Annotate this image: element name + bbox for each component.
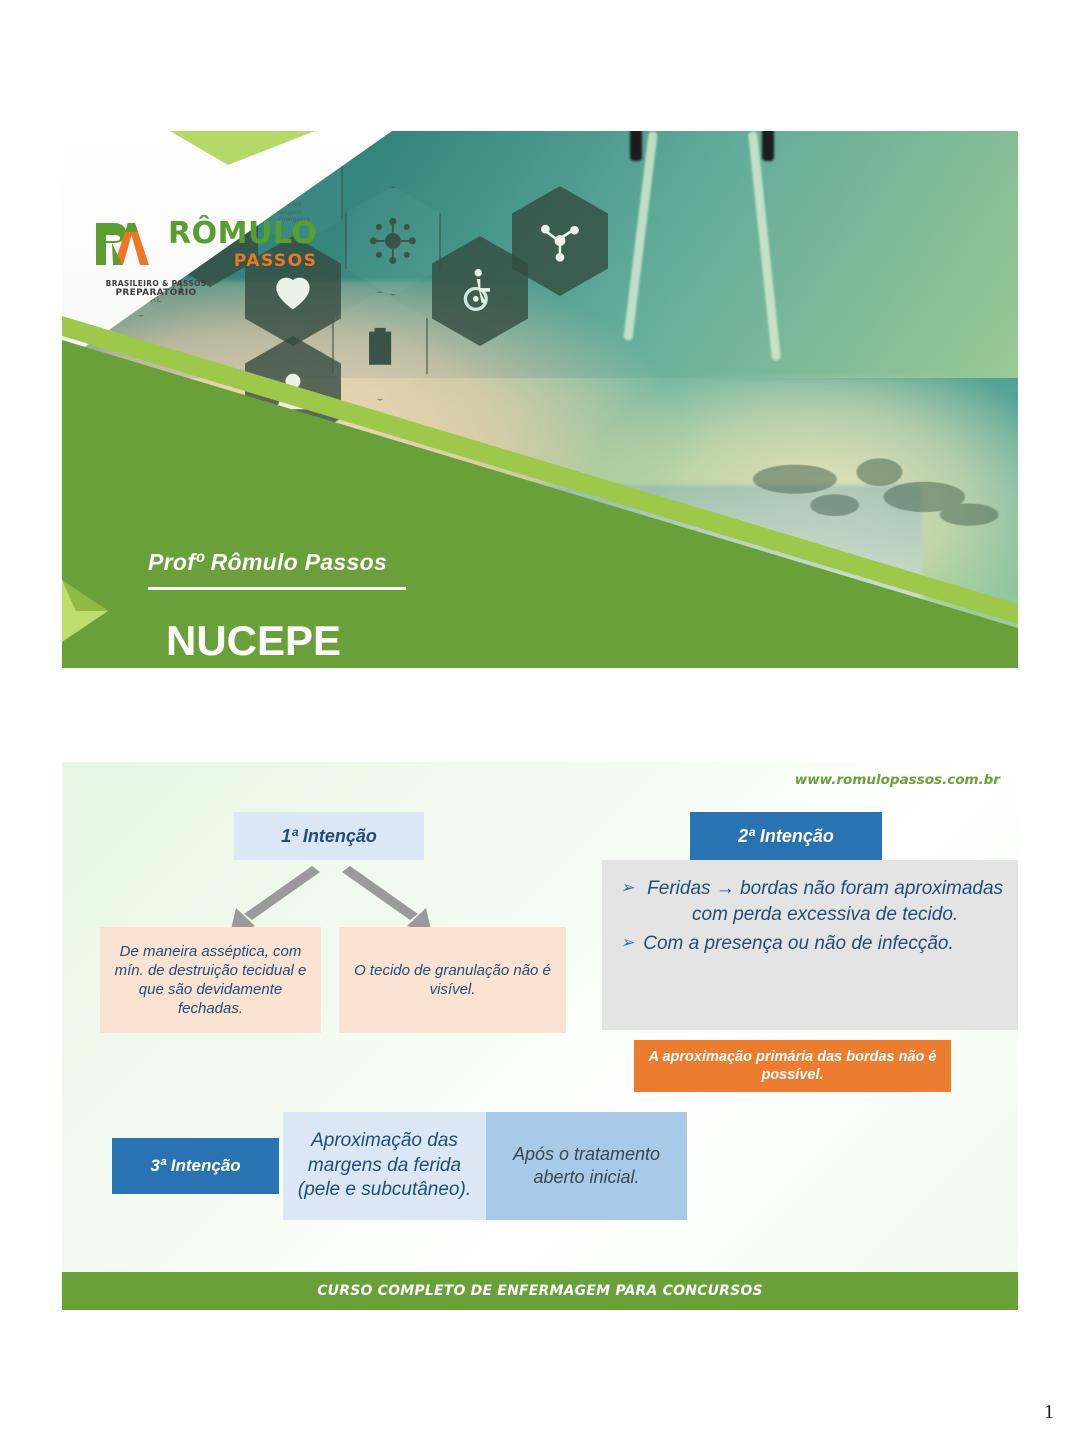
brand-logo: RÔMULO PASSOS BRASILEIRO & PASSOS PREPAR… — [90, 217, 320, 301]
intencao3-box-1: Aproximação das margens da ferida (pele … — [283, 1112, 486, 1220]
arrow-bullet-icon: ➢ — [620, 931, 634, 956]
intencao2-header: 2ª Intenção — [690, 812, 882, 860]
intencao2-callout: A aproximação primária das bordas não é … — [634, 1040, 951, 1092]
logo-romulo-text: RÔMULO — [168, 219, 317, 249]
title-slide: MEDICAL Health CareDoctorHospitalPharmac… — [62, 131, 1018, 668]
logo-wordmark: RÔMULO PASSOS — [168, 219, 317, 271]
intencao3-box-2: Após o tratamento aberto inicial. — [486, 1112, 687, 1220]
logo-subtitle-line1: BRASILEIRO & PASSOS — [90, 279, 222, 288]
intencao2-bullet-2-text: Com a presença ou não de infecção. — [643, 931, 954, 957]
intencao2-bullet-1-text: Feridas → bordas não foram aproximadas c… — [643, 876, 1007, 928]
intencao1-child-2: O tecido de granulação não é visível. — [339, 927, 566, 1033]
intencao1-child-1: De maneira asséptica, com mín. de destru… — [100, 927, 321, 1033]
page-title-line1: NUCEPE — [166, 620, 341, 662]
arrow-bullet-icon: ➢ — [620, 876, 634, 901]
professor-underline — [148, 587, 406, 590]
website-url: www.romulopassos.com.br — [795, 772, 1000, 788]
logo-subtitle-line2: PREPARATÓRIO — [90, 288, 222, 298]
intencao3-header: 3ª Intenção — [112, 1138, 279, 1194]
intencao2-bullet-2: ➢ Com a presença ou não de infecção. — [620, 931, 1007, 957]
logo-monogram-icon — [90, 217, 162, 277]
virus-network-icon — [345, 186, 441, 296]
intencao2-panel: ➢ Feridas → bordas não foram aproximadas… — [602, 860, 1018, 1030]
page-number: 1 — [1044, 1401, 1054, 1424]
slide-footer: CURSO COMPLETO DE ENFERMAGEM PARA CONCUR… — [62, 1272, 1018, 1310]
intencao1-header: 1ª Intenção — [234, 812, 424, 860]
clipboard-icon — [332, 291, 428, 401]
content-slide: www.romulopassos.com.br 1ª Intenção 2ª I… — [62, 762, 1018, 1310]
professor-name: Profº Rômulo Passos — [148, 549, 387, 576]
intencao2-bullet-1: ➢ Feridas → bordas não foram aproximadas… — [620, 876, 1007, 928]
document-page: MEDICAL Health CareDoctorHospitalPharmac… — [0, 0, 1080, 1440]
logo-passos-text: PASSOS — [168, 251, 317, 271]
